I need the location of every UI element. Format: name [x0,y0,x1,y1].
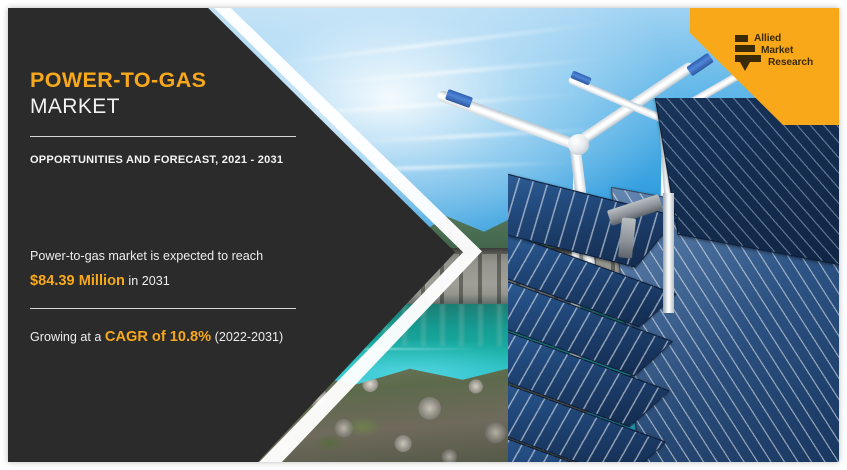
logo-wordmark: Allied Market Research [754,33,832,68]
infographic-card: POWER-TO-GAS MARKET OPPORTUNITIES AND FO… [8,8,839,462]
stat-reach-suffix: in 2031 [125,274,170,288]
stat-reach-value: $84.39 Million [30,273,125,289]
divider-top [30,136,296,137]
stat-market-value: Power-to-gas market is expected to reach… [30,245,306,294]
stat-cagr: Growing at a CAGR of 10.8% (2022-2031) [30,324,306,351]
support-pole [663,193,674,313]
logo-word-allied: Allied [754,33,832,45]
stat-reach-prefix: Power-to-gas market is expected to reach [30,249,263,263]
allied-market-research-logo[interactable]: Allied Market Research [735,34,831,80]
title-line-1: POWER-TO-GAS [30,68,310,93]
infographic-canvas: POWER-TO-GAS MARKET OPPORTUNITIES AND FO… [0,0,847,470]
logo-word-market: Market [761,45,832,57]
logo-bar [735,35,748,42]
title-line-2: MARKET [30,94,310,119]
divider-bottom [30,308,296,309]
subtitle: OPPORTUNITIES AND FORECAST, 2021 - 2031 [30,152,302,170]
logo-word-research: Research [768,57,832,69]
logo-bar [735,45,755,52]
logo-bubble-tail [740,62,750,71]
content-column: POWER-TO-GAS MARKET OPPORTUNITIES AND FO… [22,8,312,462]
stat-cagr-value: CAGR of 10.8% [105,329,211,345]
page-title: POWER-TO-GAS MARKET [30,68,310,119]
stat-cagr-prefix: Growing at a [30,330,105,344]
stat-cagr-suffix: (2022-2031) [211,330,283,344]
